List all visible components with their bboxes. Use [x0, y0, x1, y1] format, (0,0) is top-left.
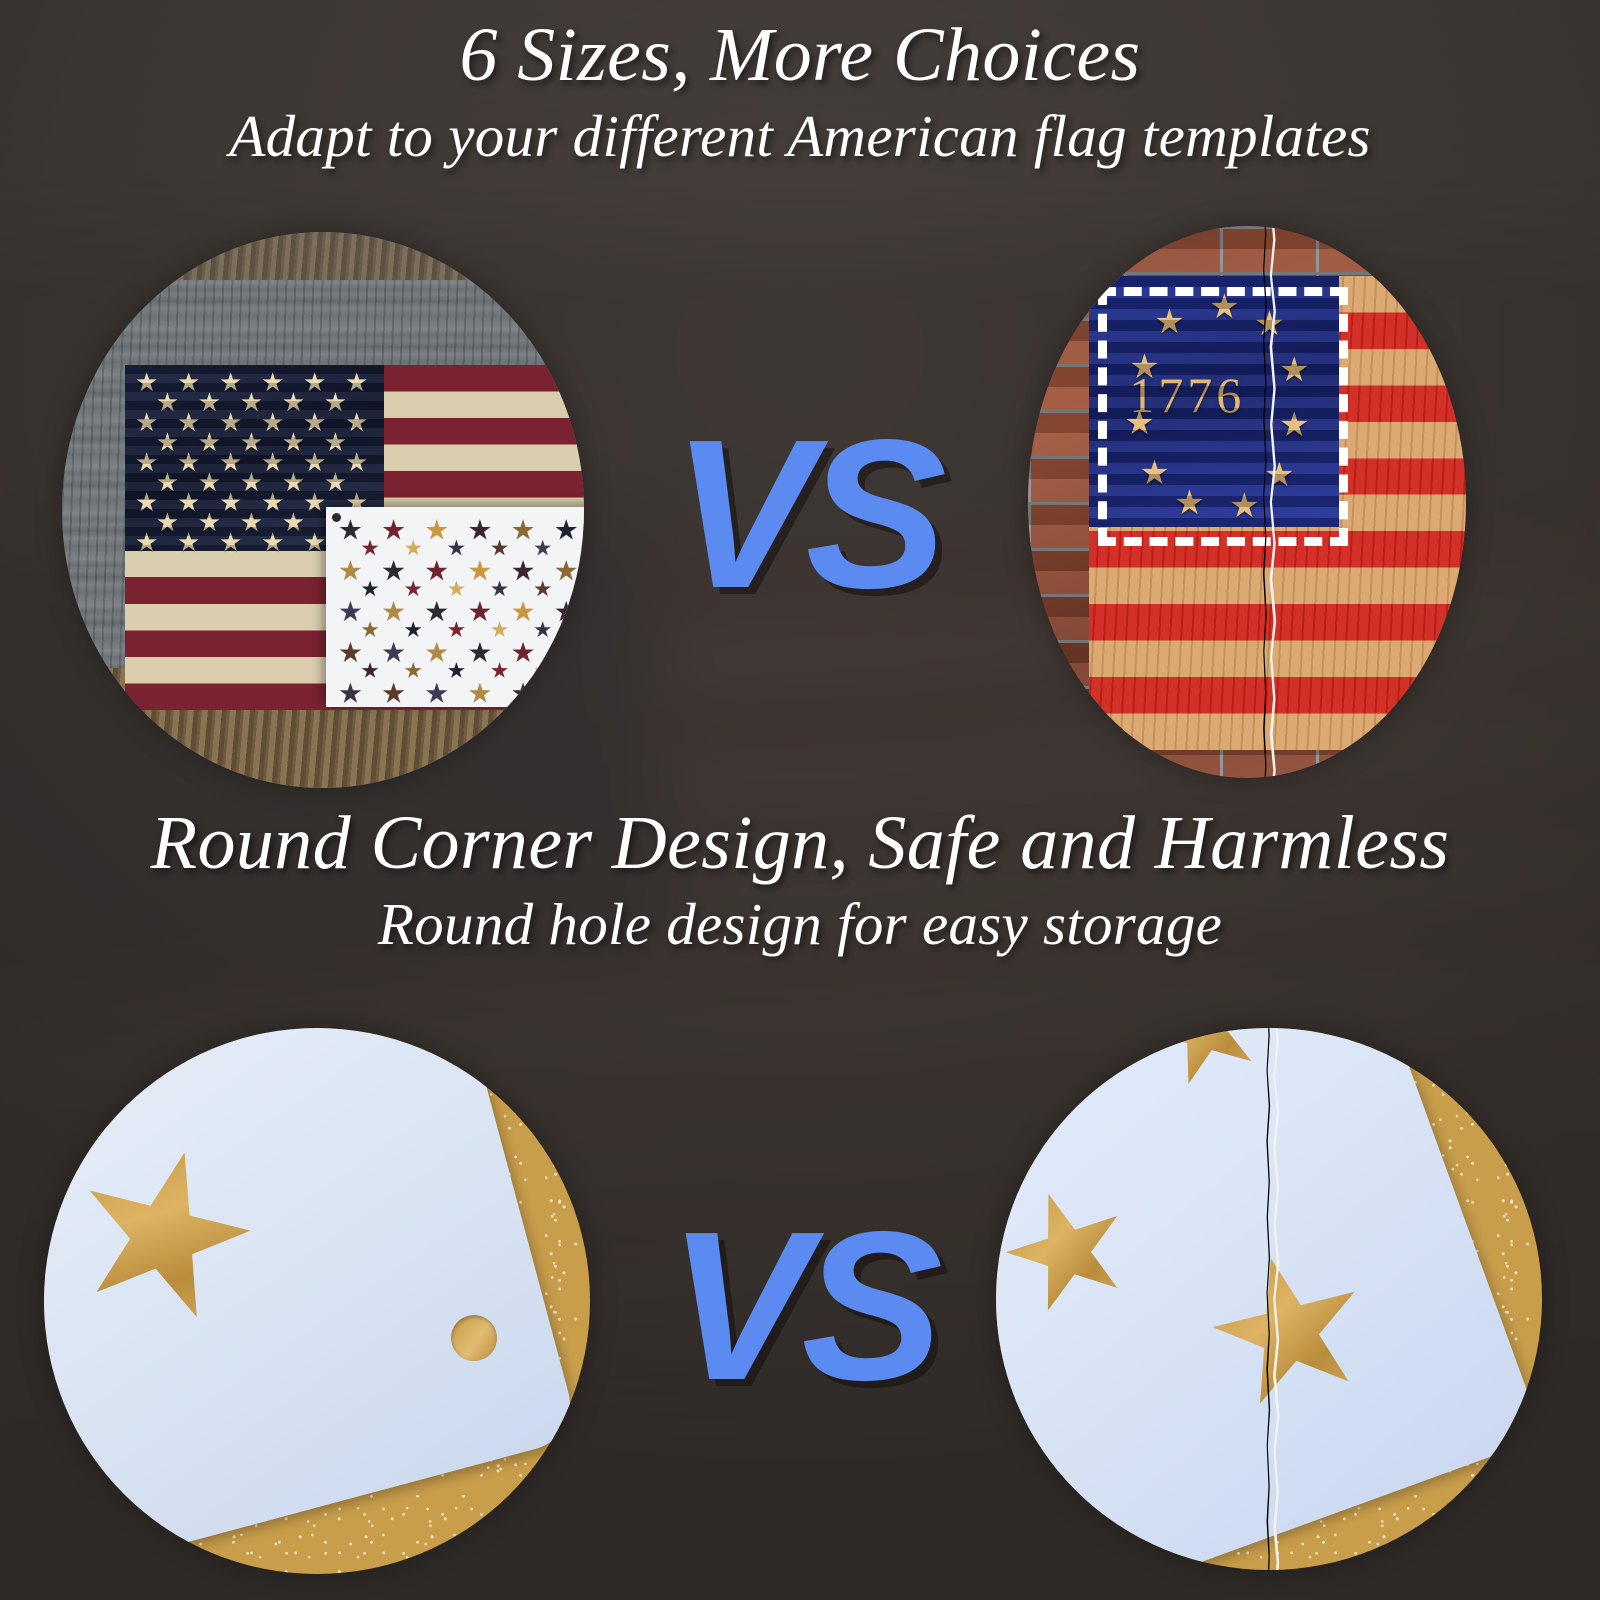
stencil-star-cutout: [405, 540, 422, 557]
stencil-star-cutout: [405, 621, 422, 638]
stencil-star-cutout: [512, 601, 534, 623]
carved-star: ★: [303, 530, 326, 556]
carved-star: ★: [324, 430, 347, 456]
stencil-star-cutout: [555, 642, 577, 664]
carved-star: ★: [345, 410, 368, 436]
carved-star: ★: [135, 450, 158, 476]
stencil-star-cutout: [534, 662, 551, 679]
section-sizes-title: 6 Sizes, More Choices: [0, 14, 1600, 96]
section-round-corner-title: Round Corner Design, Safe and Harmless: [0, 802, 1600, 884]
carved-star: ★: [345, 370, 368, 396]
carved-star: ★: [177, 410, 200, 436]
stencil-star-cutout: [383, 601, 405, 623]
stencil-star-cutout: [512, 683, 534, 705]
carved-star: ★: [177, 530, 200, 556]
stencil-star-cutout: [426, 601, 448, 623]
stencil-star-cutout: [512, 642, 534, 664]
stencil-star-cutout: [339, 601, 361, 623]
section-sizes-subtitle: Adapt to your different American flag te…: [0, 102, 1600, 172]
stencil-star-cutout: [555, 519, 577, 541]
carved-star: ★: [282, 430, 305, 456]
stencil-star-cutout: [448, 662, 465, 679]
wood-plank-top: [62, 232, 584, 280]
stencil-star-cutout: [448, 580, 465, 597]
carved-star: ★: [156, 510, 179, 536]
carved-star: ★: [261, 490, 284, 516]
stencil-star-cutout: [555, 683, 577, 705]
carved-star: ★: [240, 430, 263, 456]
stencil-star-cutout: [491, 662, 508, 679]
stencil-star-cutout: [534, 621, 551, 638]
dashed-outline-box: [1098, 287, 1348, 546]
stencil-star-cutout: [555, 560, 577, 582]
stencil-star-cutout: [426, 560, 448, 582]
stencil-star-cutout: [426, 519, 448, 541]
carved-star: ★: [135, 370, 158, 396]
torn-crack-line: [1264, 1028, 1290, 1570]
stencil-star-cutout: [534, 580, 551, 597]
carved-star: ★: [198, 510, 221, 536]
round-corner-bad-example-photo: [996, 1028, 1542, 1570]
carved-star: ★: [198, 390, 221, 416]
carved-star: ★: [177, 490, 200, 516]
torn-crack-line: [1260, 226, 1286, 778]
carved-star: ★: [303, 410, 326, 436]
carved-star: ★: [261, 530, 284, 556]
stencil-star-cutout: [405, 662, 422, 679]
stencil-hole: [332, 513, 341, 522]
carved-star: ★: [345, 450, 368, 476]
carved-star: ★: [324, 470, 347, 496]
stencil-star-cutout: [469, 560, 491, 582]
carved-star: ★: [219, 450, 242, 476]
stencil-star-cutout: [405, 580, 422, 597]
carved-star: ★: [156, 390, 179, 416]
carved-star: ★: [303, 450, 326, 476]
carved-star: ★: [198, 430, 221, 456]
round-hanging-hole: [445, 1310, 501, 1366]
stencil-star-cutout: [512, 519, 534, 541]
stencil-star-cutout: [426, 683, 448, 705]
stencil-star-cutout: [383, 560, 405, 582]
stencil-star-cutout: [362, 580, 379, 597]
stencil-star-cutout: [512, 560, 534, 582]
stencil-star-cutout: [448, 540, 465, 557]
stencil-star-cutout: [469, 683, 491, 705]
stencil-star-cutout: [383, 642, 405, 664]
carved-star: ★: [177, 370, 200, 396]
round-corner-good-example-photo: [44, 1028, 590, 1574]
carved-star: ★: [135, 490, 158, 516]
carved-star: ★: [219, 410, 242, 436]
stencil-star-cutout: [339, 683, 361, 705]
stencil-star-cutout: [362, 662, 379, 679]
sizes-bad-example-photo: 1776 ★★★★★★★★★★★★★: [1028, 226, 1466, 778]
stencil-star-cutout: [469, 519, 491, 541]
carved-star: ★: [261, 450, 284, 476]
carved-star: ★: [240, 390, 263, 416]
carved-star: ★: [177, 450, 200, 476]
stencil-star-cutout: [491, 621, 508, 638]
carved-star: ★: [198, 470, 221, 496]
carved-star: ★: [156, 430, 179, 456]
vs-badge-sizes: VS: [672, 392, 939, 636]
sizes-good-example-photo: ★★★★★★★★★★★★★★★★★★★★★★★★★★★★★★★★★★★★★★★★…: [62, 232, 584, 788]
carved-star: ★: [324, 390, 347, 416]
stencil-star-cutout: [491, 580, 508, 597]
stencil-star-cutout: [362, 540, 379, 557]
stencil-star-cutout: [469, 601, 491, 623]
carved-star: ★: [135, 530, 158, 556]
stencil-star-cutout: [383, 683, 405, 705]
carved-star: ★: [282, 510, 305, 536]
carved-star: ★: [261, 410, 284, 436]
section-round-corner-heading: Round Corner Design, Safe and Harmless R…: [0, 802, 1600, 960]
stencil-star-cutout: [383, 519, 405, 541]
section-round-corner-subtitle: Round hole design for easy storage: [0, 890, 1600, 960]
vs-badge-round-corner: VS: [668, 1184, 935, 1428]
carved-star: ★: [240, 470, 263, 496]
stencil-star-cutout: [448, 621, 465, 638]
stencil-star-cutout: [362, 621, 379, 638]
carved-star: ★: [282, 390, 305, 416]
carved-star: ★: [156, 470, 179, 496]
carved-star: ★: [219, 530, 242, 556]
carved-star: ★: [303, 490, 326, 516]
stencil-star-cutout: [339, 560, 361, 582]
carved-star: ★: [303, 370, 326, 396]
carved-star: ★: [240, 510, 263, 536]
stencil-star-cutout: [339, 519, 361, 541]
stencil-star-cutout: [469, 642, 491, 664]
carved-star: ★: [261, 370, 284, 396]
carved-star: ★: [219, 370, 242, 396]
stencil-star-cutout: [491, 540, 508, 557]
stencil-star-cutout: [339, 642, 361, 664]
carved-star: ★: [282, 470, 305, 496]
carved-star: ★: [135, 410, 158, 436]
carved-star: ★: [219, 490, 242, 516]
stencil-star-cutout: [534, 540, 551, 557]
star-field-stencil: [326, 507, 584, 707]
stencil-star-cutout: [426, 642, 448, 664]
section-sizes-heading: 6 Sizes, More Choices Adapt to your diff…: [0, 14, 1600, 172]
stencil-star-cutout: [555, 601, 577, 623]
